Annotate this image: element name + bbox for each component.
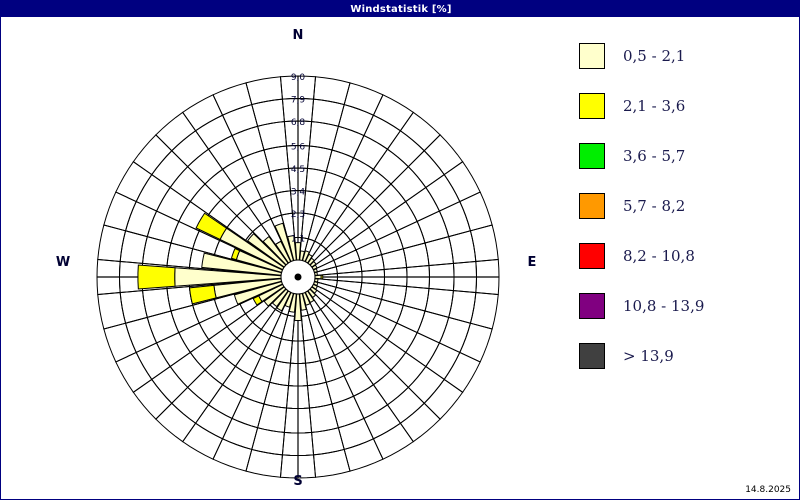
grid-cell bbox=[309, 404, 338, 432]
grid-cell bbox=[336, 280, 362, 293]
legend-swatch bbox=[579, 93, 605, 119]
grid-cell bbox=[223, 105, 258, 136]
grid-cell bbox=[205, 354, 235, 385]
grid-cell bbox=[308, 382, 333, 408]
grid-cell bbox=[369, 314, 397, 340]
legend-swatch bbox=[579, 293, 605, 319]
grid-cell bbox=[258, 122, 287, 150]
grid-cell bbox=[417, 311, 449, 343]
grid-cell bbox=[306, 361, 327, 386]
grid-cell bbox=[338, 418, 373, 449]
grid-cell bbox=[133, 379, 171, 419]
grid-cell bbox=[359, 327, 387, 354]
grid-cell bbox=[344, 83, 383, 115]
grid-cell bbox=[188, 370, 223, 405]
legend-label: > 13,9 bbox=[623, 347, 674, 365]
grid-cell bbox=[104, 323, 136, 362]
grid-cell bbox=[360, 255, 384, 272]
wind-rose-plot: 1,12,33,44,55,66,87,99,0 N S W E bbox=[1, 17, 561, 501]
grid-cell bbox=[143, 237, 171, 266]
grid-cell bbox=[183, 423, 223, 459]
legend-row[interactable]: 3,6 - 5,7 bbox=[579, 131, 789, 181]
grid-cell bbox=[133, 135, 171, 175]
grid-cell bbox=[460, 192, 492, 231]
grid-cell bbox=[304, 339, 321, 363]
grid-cell bbox=[382, 249, 407, 270]
grid-cell bbox=[326, 150, 353, 178]
grid-cell bbox=[172, 387, 209, 423]
grid-cell bbox=[361, 169, 391, 200]
grid-cell bbox=[314, 77, 350, 105]
grid-cell bbox=[196, 405, 232, 439]
grid-cell bbox=[338, 105, 373, 136]
grid-cell bbox=[425, 288, 453, 317]
grid-cell bbox=[397, 221, 425, 248]
legend-row[interactable]: 10,8 - 13,9 bbox=[579, 281, 789, 331]
grid-cell bbox=[400, 112, 440, 150]
grid-cell bbox=[223, 158, 252, 188]
grid-cell bbox=[439, 317, 470, 352]
grid-cell bbox=[391, 352, 426, 387]
grid-cell bbox=[98, 225, 126, 261]
petal-segment bbox=[321, 275, 323, 279]
grid-cell bbox=[387, 387, 424, 423]
grid-cell bbox=[152, 366, 188, 403]
grid-cell bbox=[188, 149, 223, 184]
window-title-bar: Windstatistik [%] bbox=[1, 1, 800, 17]
grid-cell bbox=[335, 178, 361, 206]
grid-cell bbox=[332, 126, 364, 158]
grid-cell bbox=[167, 287, 193, 312]
grid-cell bbox=[426, 175, 460, 211]
grid-cell bbox=[344, 439, 383, 471]
grid-cell bbox=[221, 338, 248, 366]
grid-cell bbox=[326, 376, 353, 404]
legend-swatch bbox=[579, 43, 605, 69]
grid-cell bbox=[156, 112, 196, 150]
grid-cell bbox=[424, 135, 462, 175]
date-stamp: 14.8.2025 bbox=[745, 485, 791, 495]
compass-label-east: E bbox=[528, 255, 537, 270]
grid-cell bbox=[403, 287, 429, 312]
grid-cell bbox=[382, 285, 407, 306]
petal-segment bbox=[138, 265, 175, 289]
grid-cell bbox=[157, 333, 191, 367]
grid-cell bbox=[406, 188, 440, 222]
grid-cell bbox=[470, 293, 498, 329]
grid-cell bbox=[252, 172, 276, 199]
grid-cell bbox=[387, 202, 417, 231]
grid-cell bbox=[235, 178, 261, 206]
grid-cell bbox=[136, 343, 170, 379]
compass-label-north: N bbox=[293, 28, 304, 43]
grid-cell bbox=[400, 403, 440, 441]
petal-segment bbox=[190, 285, 217, 304]
radial-tick-label: 9,0 bbox=[291, 73, 306, 83]
grid-cell bbox=[205, 169, 235, 200]
grid-cell bbox=[156, 403, 196, 441]
grid-cell bbox=[387, 323, 417, 352]
grid-cell bbox=[373, 149, 408, 184]
grid-cell bbox=[391, 167, 426, 202]
grid-cell bbox=[439, 202, 470, 237]
grid-cell bbox=[344, 366, 373, 396]
center-dot bbox=[295, 274, 302, 281]
grid-cell bbox=[359, 200, 387, 227]
grid-cell bbox=[171, 221, 199, 248]
legend-row[interactable]: 0,5 - 2,1 bbox=[579, 31, 789, 81]
grid-cell bbox=[136, 175, 170, 211]
grid-cell bbox=[199, 314, 227, 340]
grid-cell bbox=[348, 338, 375, 366]
grid-cell bbox=[190, 184, 221, 214]
grid-cell bbox=[172, 131, 209, 167]
grid-cell bbox=[320, 355, 344, 382]
grid-cell bbox=[424, 379, 462, 419]
legend-row[interactable]: 5,7 - 8,2 bbox=[579, 181, 789, 231]
legend: 0,5 - 2,12,1 - 3,63,6 - 5,75,7 - 8,28,2 … bbox=[579, 31, 789, 381]
grid-cell bbox=[373, 423, 413, 459]
radial-tick-label: 3,4 bbox=[291, 188, 306, 198]
grid-cell bbox=[152, 151, 188, 188]
calm-circle bbox=[281, 260, 315, 294]
legend-label: 8,2 - 10,8 bbox=[623, 247, 695, 265]
grid-cell bbox=[281, 315, 294, 341]
grid-cell bbox=[170, 167, 205, 202]
radial-tick-label: 2,3 bbox=[291, 210, 305, 220]
legend-swatch bbox=[579, 143, 605, 169]
grid-cell bbox=[408, 366, 444, 403]
grid-cell bbox=[425, 237, 453, 266]
grid-cell bbox=[221, 188, 248, 216]
radial-tick-label: 5,6 bbox=[291, 143, 306, 153]
grid-cell bbox=[98, 293, 126, 329]
grid-cell bbox=[232, 396, 264, 428]
grid-cell bbox=[375, 184, 406, 214]
grid-cell bbox=[354, 385, 388, 419]
grid-cell bbox=[196, 115, 232, 149]
compass-label-west: W bbox=[56, 255, 70, 270]
grid-cell bbox=[270, 168, 291, 193]
grid-cell bbox=[167, 243, 193, 268]
legend-swatch bbox=[579, 243, 605, 269]
grid-cell bbox=[242, 376, 269, 404]
legend-label: 5,7 - 8,2 bbox=[623, 197, 685, 215]
grid-cell bbox=[373, 370, 408, 405]
grid-cell bbox=[126, 317, 157, 352]
grid-cell bbox=[406, 333, 440, 367]
grid-cell bbox=[143, 288, 171, 317]
grid-cell bbox=[116, 162, 152, 202]
grid-cell bbox=[242, 150, 269, 178]
grid-cell bbox=[157, 188, 191, 222]
grid-cell bbox=[335, 348, 361, 376]
legend-swatch bbox=[579, 343, 605, 369]
grid-cell bbox=[170, 352, 205, 387]
grid-cell bbox=[126, 202, 157, 237]
grid-cell bbox=[213, 439, 252, 471]
grid-cell bbox=[147, 211, 179, 243]
grid-cell bbox=[306, 168, 327, 193]
grid-cell bbox=[183, 95, 223, 131]
grid-cell bbox=[223, 366, 252, 396]
grid-cell bbox=[179, 323, 209, 352]
grid-cell bbox=[264, 146, 289, 172]
grid-cell bbox=[209, 385, 243, 419]
grid-cell bbox=[397, 305, 425, 332]
grid-cell bbox=[403, 243, 429, 268]
grid-cell bbox=[116, 352, 152, 392]
legend-row[interactable]: 2,1 - 3,6 bbox=[579, 81, 789, 131]
radial-tick-label: 7,9 bbox=[291, 96, 306, 106]
grid-cell bbox=[213, 83, 252, 115]
legend-swatch bbox=[579, 193, 605, 219]
grid-cell bbox=[223, 418, 258, 449]
grid-cell bbox=[308, 146, 333, 172]
grid-cell bbox=[354, 136, 388, 170]
window-title: Windstatistik [%] bbox=[350, 4, 451, 15]
petal-segment bbox=[315, 275, 321, 278]
grid-cell bbox=[314, 449, 350, 477]
radial-tick-label: 4,5 bbox=[291, 165, 305, 175]
grid-cell bbox=[264, 382, 289, 408]
legend-row[interactable]: 8,2 - 10,8 bbox=[579, 231, 789, 281]
grid-cell bbox=[348, 188, 375, 216]
grid-cell bbox=[373, 95, 413, 131]
grid-cell bbox=[364, 405, 400, 439]
grid-cell bbox=[344, 158, 373, 188]
radial-tick-label: 1,1 bbox=[291, 235, 305, 245]
legend-label: 0,5 - 2,1 bbox=[623, 47, 685, 65]
legend-label: 10,8 - 13,9 bbox=[623, 297, 704, 315]
grid-cell bbox=[460, 323, 492, 362]
grid-cell bbox=[361, 354, 391, 385]
grid-cell bbox=[364, 115, 400, 149]
grid-cell bbox=[387, 131, 424, 167]
grid-cell bbox=[209, 136, 243, 170]
grid-cell bbox=[309, 122, 338, 150]
grid-cell bbox=[369, 214, 397, 240]
grid-cell bbox=[408, 151, 444, 188]
petal-segment bbox=[196, 213, 226, 239]
radial-tick-label: 6,8 bbox=[291, 118, 306, 128]
grid-cell bbox=[444, 162, 480, 202]
legend-label: 2,1 - 3,6 bbox=[623, 97, 685, 115]
compass-label-south: S bbox=[293, 474, 302, 489]
grid-cell bbox=[235, 348, 261, 376]
legend-label: 3,6 - 5,7 bbox=[623, 147, 685, 165]
grid-cell bbox=[104, 192, 136, 231]
wind-rose-svg: 1,12,33,44,55,66,87,99,0 N S W E bbox=[1, 17, 561, 501]
grid-cell bbox=[426, 343, 460, 379]
grid-cell bbox=[444, 352, 480, 392]
grid-cell bbox=[171, 305, 199, 332]
grid-cell bbox=[376, 231, 403, 255]
grid-cell bbox=[470, 225, 498, 261]
grid-cell bbox=[258, 404, 287, 432]
grid-cell bbox=[375, 340, 406, 370]
grid-cell bbox=[246, 77, 282, 105]
grid-cell bbox=[246, 449, 282, 477]
wind-rose-window: Windstatistik [%] 1,12,33,44,55,66,87,99… bbox=[0, 0, 800, 500]
grid-cell bbox=[190, 340, 221, 370]
grid-cell bbox=[209, 327, 237, 354]
legend-row[interactable]: > 13,9 bbox=[579, 331, 789, 381]
grid-cell bbox=[270, 361, 291, 386]
